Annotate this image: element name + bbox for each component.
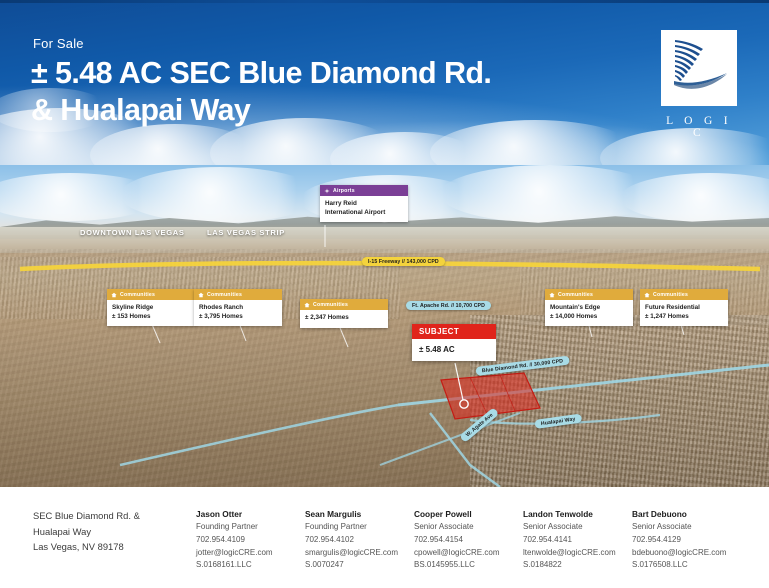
for-sale-eyebrow: For Sale xyxy=(33,36,84,51)
callout-line: Harry Reid xyxy=(325,200,403,209)
page-title: ± 5.48 AC SEC Blue Diamond Rd. & Hualapa… xyxy=(31,55,631,129)
home-icon xyxy=(644,292,650,298)
callout-future-residential[interactable]: Communities Future Residential ± 1,247 H… xyxy=(640,289,728,326)
contact-license: S.0070247 xyxy=(305,559,414,572)
callout-header: Communities xyxy=(194,289,282,300)
callout-header-label: Airports xyxy=(333,188,355,194)
callout-skyline-ridge[interactable]: Communities Skyline Ridge ± 153 Homes xyxy=(107,289,195,326)
contact-phone[interactable]: 702.954.4129 xyxy=(632,534,741,547)
callout-body: Rhodes Ranch ± 3,795 Homes xyxy=(194,300,282,326)
cloud-decoration xyxy=(330,132,480,165)
callout-header-label: Communities xyxy=(653,292,688,298)
callout-rhodes-ranch[interactable]: Communities Rhodes Ranch ± 3,795 Homes xyxy=(194,289,282,326)
callout-body: Mountain's Edge ± 14,000 Homes xyxy=(545,300,633,326)
page-title-line-1: ± 5.48 AC SEC Blue Diamond Rd. xyxy=(31,56,491,90)
logic-logo: L O G I C xyxy=(661,30,737,139)
callout-line: ± 1,247 Homes xyxy=(645,313,723,322)
contact-phone[interactable]: 702.954.4141 xyxy=(523,534,632,547)
header-banner: For Sale ± 5.48 AC SEC Blue Diamond Rd. … xyxy=(0,0,769,165)
city-label-strip: LAS VEGAS STRIP xyxy=(207,228,285,237)
callout-line: Rhodes Ranch xyxy=(199,304,277,313)
contact-license: S.0184822 xyxy=(523,559,632,572)
contact-license: S.0168161.LLC xyxy=(196,559,305,572)
callout-header-label: Communities xyxy=(313,302,348,308)
contact-email[interactable]: bdebuono@logicCRE.com xyxy=(632,547,741,560)
address-line-2: Hualapai Way xyxy=(33,524,193,540)
aerial-map[interactable]: DOWNTOWN LAS VEGAS LAS VEGAS STRIP Airpo… xyxy=(0,165,769,487)
contact-email[interactable]: jotter@logicCRE.com xyxy=(196,547,305,560)
contact-phone[interactable]: 702.954.4154 xyxy=(414,534,523,547)
logo-mark-box xyxy=(661,30,737,106)
city-label-downtown: DOWNTOWN LAS VEGAS xyxy=(80,228,185,237)
callout-header: Communities xyxy=(640,289,728,300)
callout-header: Communities xyxy=(545,289,633,300)
callout-line: Future Residential xyxy=(645,304,723,313)
page-title-line-2: & Hualapai Way xyxy=(31,92,631,129)
property-address: SEC Blue Diamond Rd. & Hualapai Way Las … xyxy=(33,508,193,555)
contact-name: Bart Debuono xyxy=(632,508,741,521)
callout-line: Mountain's Edge xyxy=(550,304,628,313)
contact-phone[interactable]: 702.954.4109 xyxy=(196,534,305,547)
callout-body: Harry Reid International Airport xyxy=(320,196,408,222)
callout-mountains-edge[interactable]: Communities Mountain's Edge ± 14,000 Hom… xyxy=(545,289,633,326)
contact-card: Cooper Powell Senior Associate 702.954.4… xyxy=(414,508,523,572)
contact-card: Bart Debuono Senior Associate 702.954.41… xyxy=(632,508,741,572)
airplane-icon xyxy=(324,188,330,194)
contact-name: Landon Tenwolde xyxy=(523,508,632,521)
subject-header: SUBJECT xyxy=(412,324,496,339)
contact-name: Jason Otter xyxy=(196,508,305,521)
callout-header: Communities xyxy=(107,289,195,300)
contact-name: Sean Margulis xyxy=(305,508,414,521)
header-top-rule xyxy=(0,0,769,3)
callout-header: Airports xyxy=(320,185,408,196)
contact-title: Senior Associate xyxy=(632,521,741,534)
callout-line: Skyline Ridge xyxy=(112,304,190,313)
subject-acreage: ± 5.48 AC xyxy=(412,339,496,361)
logo-swoosh-icon xyxy=(661,30,737,106)
contact-license: BS.0145955.LLC xyxy=(414,559,523,572)
callout-line: ± 2,347 Homes xyxy=(305,314,383,323)
contact-license: S.0176508.LLC xyxy=(632,559,741,572)
contact-card: Jason Otter Founding Partner 702.954.410… xyxy=(196,508,305,572)
flyer-page: For Sale ± 5.48 AC SEC Blue Diamond Rd. … xyxy=(0,0,769,588)
address-line-1: SEC Blue Diamond Rd. & xyxy=(33,508,193,524)
contact-email[interactable]: smargulis@logicCRE.com xyxy=(305,547,414,560)
contact-phone[interactable]: 702.954.4102 xyxy=(305,534,414,547)
callout-line: ± 3,795 Homes xyxy=(199,313,277,322)
contact-title: Senior Associate xyxy=(414,521,523,534)
home-icon xyxy=(304,302,310,308)
contact-title: Founding Partner xyxy=(196,521,305,534)
callout-line: International Airport xyxy=(325,209,403,218)
callout-body: Skyline Ridge ± 153 Homes xyxy=(107,300,195,326)
logo-wordmark: L O G I C xyxy=(661,115,737,139)
footer: SEC Blue Diamond Rd. & Hualapai Way Las … xyxy=(0,487,769,588)
contact-card: Sean Margulis Founding Partner 702.954.4… xyxy=(305,508,414,572)
subject-callout[interactable]: SUBJECT ± 5.48 AC xyxy=(412,324,496,361)
callout-header-label: Communities xyxy=(558,292,593,298)
callout-body: ± 2,347 Homes xyxy=(300,310,388,328)
contact-list: Jason Otter Founding Partner 702.954.410… xyxy=(196,508,756,572)
home-icon xyxy=(198,292,204,298)
cloud-decoration xyxy=(90,124,260,165)
contact-email[interactable]: cpowell@logicCRE.com xyxy=(414,547,523,560)
address-line-3: Las Vegas, NV 89178 xyxy=(33,539,193,555)
callout-airport[interactable]: Airports Harry Reid International Airpor… xyxy=(320,185,408,222)
callout-header-label: Communities xyxy=(120,292,155,298)
home-icon xyxy=(111,292,117,298)
contact-name: Cooper Powell xyxy=(414,508,523,521)
callout-unnamed-community[interactable]: Communities ± 2,347 Homes xyxy=(300,299,388,328)
callout-header: Communities xyxy=(300,299,388,310)
contact-card: Landon Tenwolde Senior Associate 702.954… xyxy=(523,508,632,572)
callout-line: ± 14,000 Homes xyxy=(550,313,628,322)
contact-title: Senior Associate xyxy=(523,521,632,534)
contact-title: Founding Partner xyxy=(305,521,414,534)
contact-email[interactable]: ltenwolde@logicCRE.com xyxy=(523,547,632,560)
callout-body: Future Residential ± 1,247 Homes xyxy=(640,300,728,326)
callout-header-label: Communities xyxy=(207,292,242,298)
home-icon xyxy=(549,292,555,298)
callout-line: ± 153 Homes xyxy=(112,313,190,322)
road-label-i15: I-15 Freeway // 143,000 CPD xyxy=(362,257,445,266)
road-label-ft-apache: Ft. Apache Rd. // 10,700 CPD xyxy=(406,301,491,310)
